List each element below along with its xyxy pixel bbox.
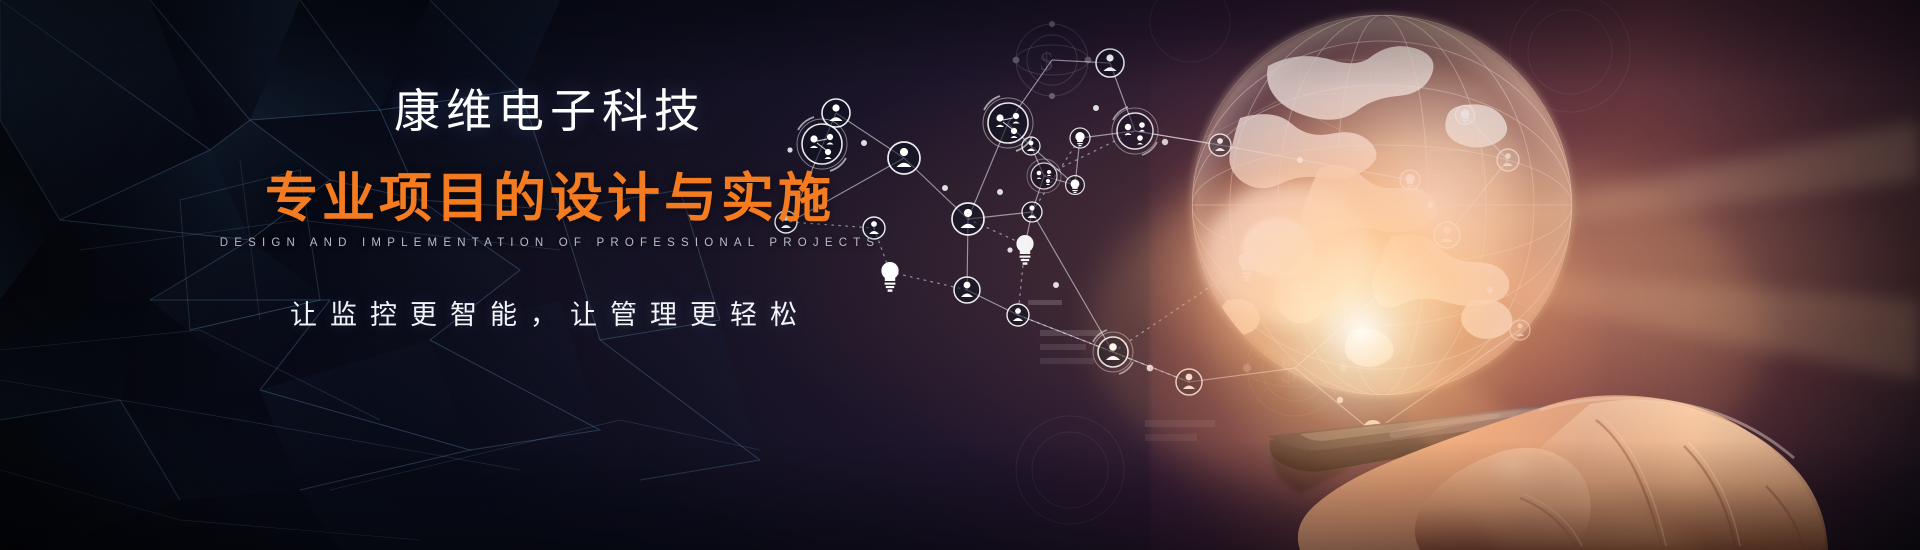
hero-headline-english: DESIGN AND IMPLEMENTATION OF PROFESSIONA… bbox=[60, 237, 1040, 249]
hero-copy-block: 康维电子科技 专业项目的设计与实施 DESIGN AND IMPLEMENTAT… bbox=[0, 0, 1040, 550]
hero-headline: 专业项目的设计与实施 bbox=[60, 171, 1040, 227]
company-title: 康维电子科技 bbox=[60, 86, 1040, 137]
hero-banner: $ $ bbox=[0, 0, 1920, 550]
hero-tagline: 让监控更智能，让管理更轻松 bbox=[60, 293, 1040, 332]
